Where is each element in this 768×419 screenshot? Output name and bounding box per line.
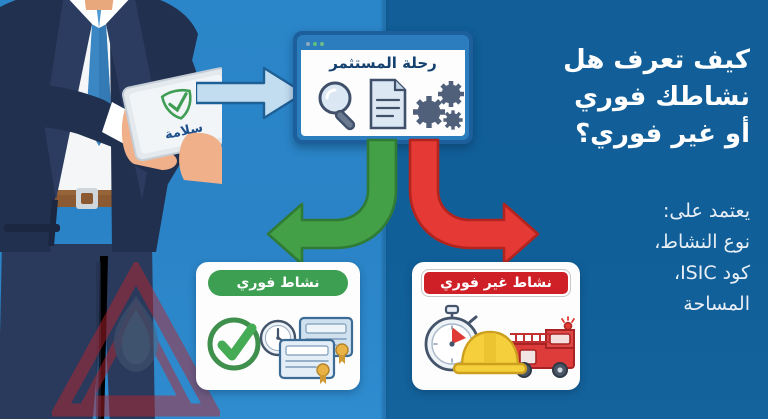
window-title-bar bbox=[301, 38, 465, 50]
headline-line-2: نشاطك فوري bbox=[500, 79, 750, 116]
subtitle-line-3: كود ISIC، bbox=[500, 258, 750, 289]
document-icon bbox=[371, 80, 405, 128]
investor-journey-window[interactable]: رحلة المستثمر bbox=[293, 31, 473, 144]
subtitle-line-2: نوع النشاط، bbox=[500, 227, 750, 258]
headline-line-1: كيف تعرف هل bbox=[500, 42, 750, 79]
gears-icon bbox=[413, 81, 464, 130]
subtitle-block: يعتمد على: نوع النشاط، كود ISIC، المساحة bbox=[500, 196, 750, 320]
badge-immediate: نشاط فوري bbox=[208, 270, 348, 296]
window-dot-green-icon bbox=[313, 42, 317, 46]
window-dot-green-icon bbox=[320, 42, 324, 46]
infographic-canvas: سلامة bbox=[0, 0, 768, 419]
civil-defense-triangle-flame-logo bbox=[52, 262, 220, 419]
result-card-immediate[interactable]: نشاط فوري bbox=[196, 262, 360, 390]
window-dot-grey-icon bbox=[306, 42, 310, 46]
elbow-arrow-down-left-icon bbox=[268, 140, 396, 264]
arrow-right-icon bbox=[196, 66, 306, 120]
page-title: كيف تعرف هل نشاطك فوري أو غير فوري؟ bbox=[500, 42, 750, 153]
immediate-icon-row bbox=[196, 300, 360, 386]
subtitle-line-1: يعتمد على: bbox=[500, 196, 750, 227]
check-circle-icon bbox=[210, 320, 258, 368]
journey-icon-row bbox=[301, 76, 465, 134]
window-content: رحلة المستثمر bbox=[301, 50, 465, 136]
headline-line-3: أو غير فوري؟ bbox=[500, 116, 750, 153]
certificate-icon bbox=[280, 340, 334, 384]
subtitle-line-4: المساحة bbox=[500, 289, 750, 320]
magnifier-icon bbox=[320, 83, 356, 131]
investor-journey-title: رحلة المستثمر bbox=[301, 54, 465, 72]
